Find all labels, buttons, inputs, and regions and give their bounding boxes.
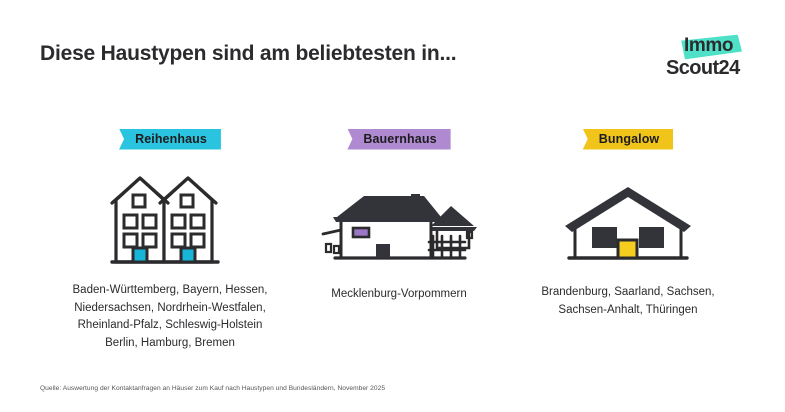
regions-list-bungalow: Brandenburg, Saarland, Sachsen, Sachsen-… [510, 284, 746, 319]
badge-container: Reihenhaus [52, 128, 288, 150]
illustration-bungalow [510, 160, 746, 270]
regions-list-reihenhaus: Baden-Württemberg, Bayern, Hessen, Niede… [52, 282, 288, 352]
badge-container: Bungalow [510, 128, 746, 150]
logo-text-scout24: Scout24 [666, 56, 740, 80]
badge-container: Bauernhaus [281, 128, 517, 150]
row-house-icon [100, 170, 240, 270]
logo-text-immo: Immo [684, 35, 733, 57]
regions-list-bauernhaus: Mecklenburg-Vorpommern [281, 286, 517, 304]
illustration-row-house [52, 160, 288, 270]
immoscout24-logo: Immo Scout24 [666, 33, 752, 85]
source-note: Quelle: Auswertung der Kontaktanfragen a… [40, 385, 385, 392]
house-type-card-bauernhaus: Bauernhaus [281, 128, 517, 304]
page-title: Diese Haustypen sind am beliebtesten in.… [40, 42, 456, 66]
badge-bauernhaus: Bauernhaus [347, 129, 450, 150]
farm-house-icon [319, 170, 479, 270]
bungalow-icon [553, 170, 703, 270]
badge-reihenhaus: Reihenhaus [119, 129, 221, 150]
house-type-card-reihenhaus: Reihenhaus [52, 128, 288, 352]
house-type-card-bungalow: Bungalow Brandenburg, Saarland, Sachsen,… [510, 128, 746, 319]
illustration-farm-house [281, 160, 517, 270]
badge-bungalow: Bungalow [583, 129, 674, 150]
